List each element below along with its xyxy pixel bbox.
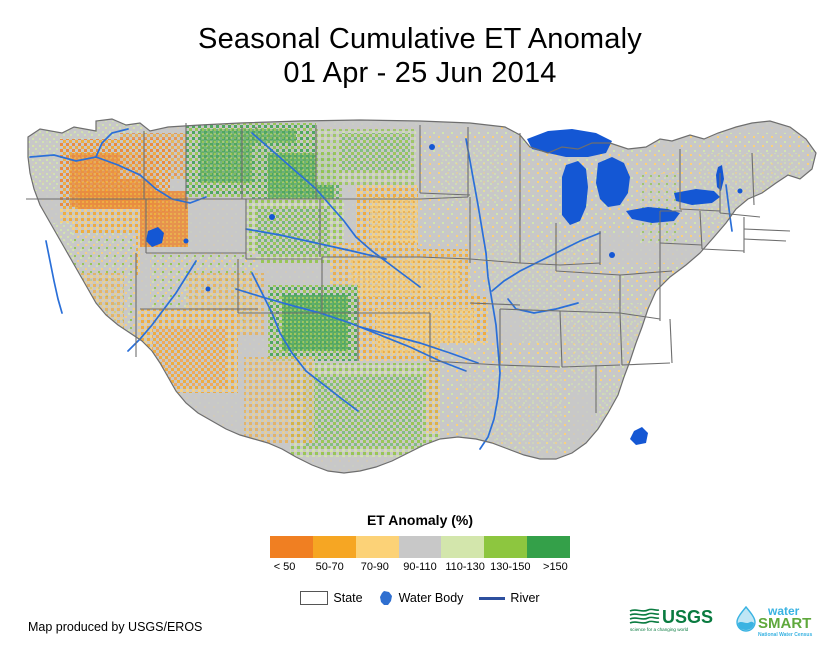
rectangle-outline-icon xyxy=(300,591,328,605)
legend-label-130-150: 130-150 xyxy=(488,561,533,573)
legend-label-70-90: 70-90 xyxy=(352,561,397,573)
legend: ET Anomaly (%) < 50 50-70 70-90 90-110 1… xyxy=(0,512,840,573)
map-panel[interactable] xyxy=(0,113,840,495)
logo-group: USGS science for a changing world water … xyxy=(628,604,832,643)
us-et-anomaly-map[interactable] xyxy=(0,113,840,495)
usgs-wave-icon xyxy=(630,609,659,623)
legend-label-gt150: >150 xyxy=(533,561,578,573)
line-icon xyxy=(479,597,505,600)
feature-legend-river: River xyxy=(479,591,539,605)
page-title: Seasonal Cumulative ET Anomaly 01 Apr - … xyxy=(0,22,840,90)
legend-swatch-50-70 xyxy=(313,536,356,558)
feature-legend-water-body: Water Body xyxy=(379,590,464,606)
feature-legend-river-label: River xyxy=(510,591,539,605)
feature-legend-state: State xyxy=(300,591,362,605)
legend-title: ET Anomaly (%) xyxy=(0,512,840,528)
legend-label-90-110: 90-110 xyxy=(397,561,442,573)
credit-text: Map produced by USGS/EROS xyxy=(28,620,202,634)
legend-swatch-70-90 xyxy=(356,536,399,558)
water-drop-icon xyxy=(737,607,755,631)
legend-swatch-lt50 xyxy=(270,536,313,558)
usgs-tagline: science for a changing world xyxy=(630,627,689,632)
legend-swatch-90-110 xyxy=(399,536,442,558)
title-line-1: Seasonal Cumulative ET Anomaly xyxy=(0,22,840,56)
legend-swatch-130-150 xyxy=(484,536,527,558)
legend-swatch-110-130 xyxy=(441,536,484,558)
title-line-2: 01 Apr - 25 Jun 2014 xyxy=(0,56,840,90)
feature-legend-state-label: State xyxy=(333,591,362,605)
water-body-icon xyxy=(379,590,394,606)
legend-swatch-gt150 xyxy=(527,536,570,558)
legend-label-110-130: 110-130 xyxy=(443,561,488,573)
legend-labels: < 50 50-70 70-90 90-110 110-130 130-150 … xyxy=(262,561,578,573)
feature-legend-water-body-label: Water Body xyxy=(399,591,464,605)
legend-label-50-70: 50-70 xyxy=(307,561,352,573)
watersmart-tagline: National Water Census xyxy=(758,632,812,638)
usgs-wordmark: USGS xyxy=(662,607,713,627)
watersmart-smart-word: SMART xyxy=(758,615,811,632)
usgs-logo[interactable]: USGS science for a changing world xyxy=(628,604,720,639)
watersmart-logo[interactable]: water SMART National Water Census xyxy=(728,604,832,643)
legend-color-bar xyxy=(270,536,570,558)
legend-label-lt50: < 50 xyxy=(262,561,307,573)
